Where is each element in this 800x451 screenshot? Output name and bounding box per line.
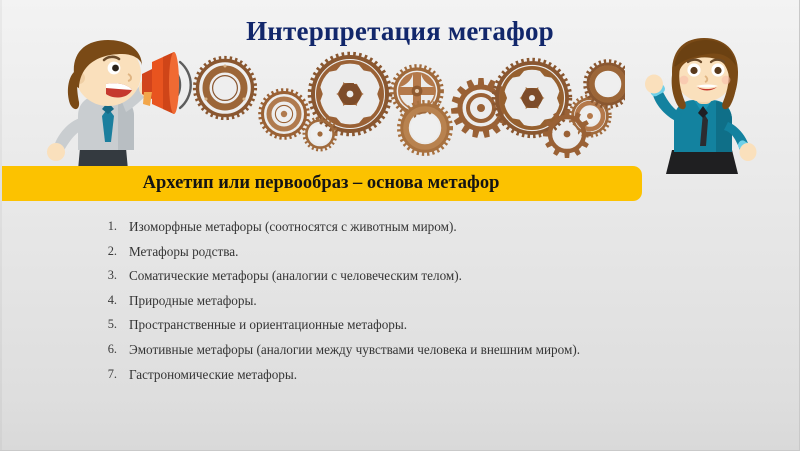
list-item-text: Пространственные и ориентационные метафо…	[129, 317, 407, 333]
list-item-number: 7.	[0, 367, 117, 382]
list-item-text: Гастрономические метафоры.	[129, 367, 297, 383]
list-item: 3.Соматические метафоры (аналогии с чело…	[0, 268, 800, 293]
list-item-number: 2.	[0, 244, 117, 259]
gear-cluster-illustration	[185, 46, 625, 158]
list-item-text: Соматические метафоры (аналогии с челове…	[129, 268, 462, 284]
list-item: 6.Эмотивные метафоры (аналогии между чув…	[0, 342, 800, 367]
presentation-slide: Интерпретация метафор Архетип или первоо…	[0, 0, 800, 451]
metaphor-types-list: 1.Изоморфные метафоры (соотносятся с жив…	[0, 219, 800, 391]
list-item: 2.Метафоры родства.	[0, 244, 800, 269]
list-item-number: 4.	[0, 293, 117, 308]
list-item-number: 3.	[0, 268, 117, 283]
banner-heading: Архетип или первообраз – основа метафор	[0, 166, 642, 201]
list-item-text: Метафоры родства.	[129, 244, 238, 260]
list-item-text: Природные метафоры.	[129, 293, 257, 309]
slide-title: Интерпретация метафор	[0, 16, 800, 47]
woman-raising-hand-illustration	[628, 32, 800, 182]
man-with-megaphone-illustration	[22, 30, 198, 180]
list-item-number: 5.	[0, 317, 117, 332]
list-item-number: 1.	[0, 219, 117, 234]
list-item-text: Изоморфные метафоры (соотносятся с живот…	[129, 219, 457, 235]
list-item: 5.Пространственные и ориентационные мета…	[0, 317, 800, 342]
list-item-number: 6.	[0, 342, 117, 357]
list-item: 1.Изоморфные метафоры (соотносятся с жив…	[0, 219, 800, 244]
list-item: 7.Гастрономические метафоры.	[0, 367, 800, 392]
list-item: 4.Природные метафоры.	[0, 293, 800, 318]
list-item-text: Эмотивные метафоры (аналогии между чувст…	[129, 342, 580, 358]
yellow-banner: Архетип или первообраз – основа метафор	[0, 166, 642, 201]
